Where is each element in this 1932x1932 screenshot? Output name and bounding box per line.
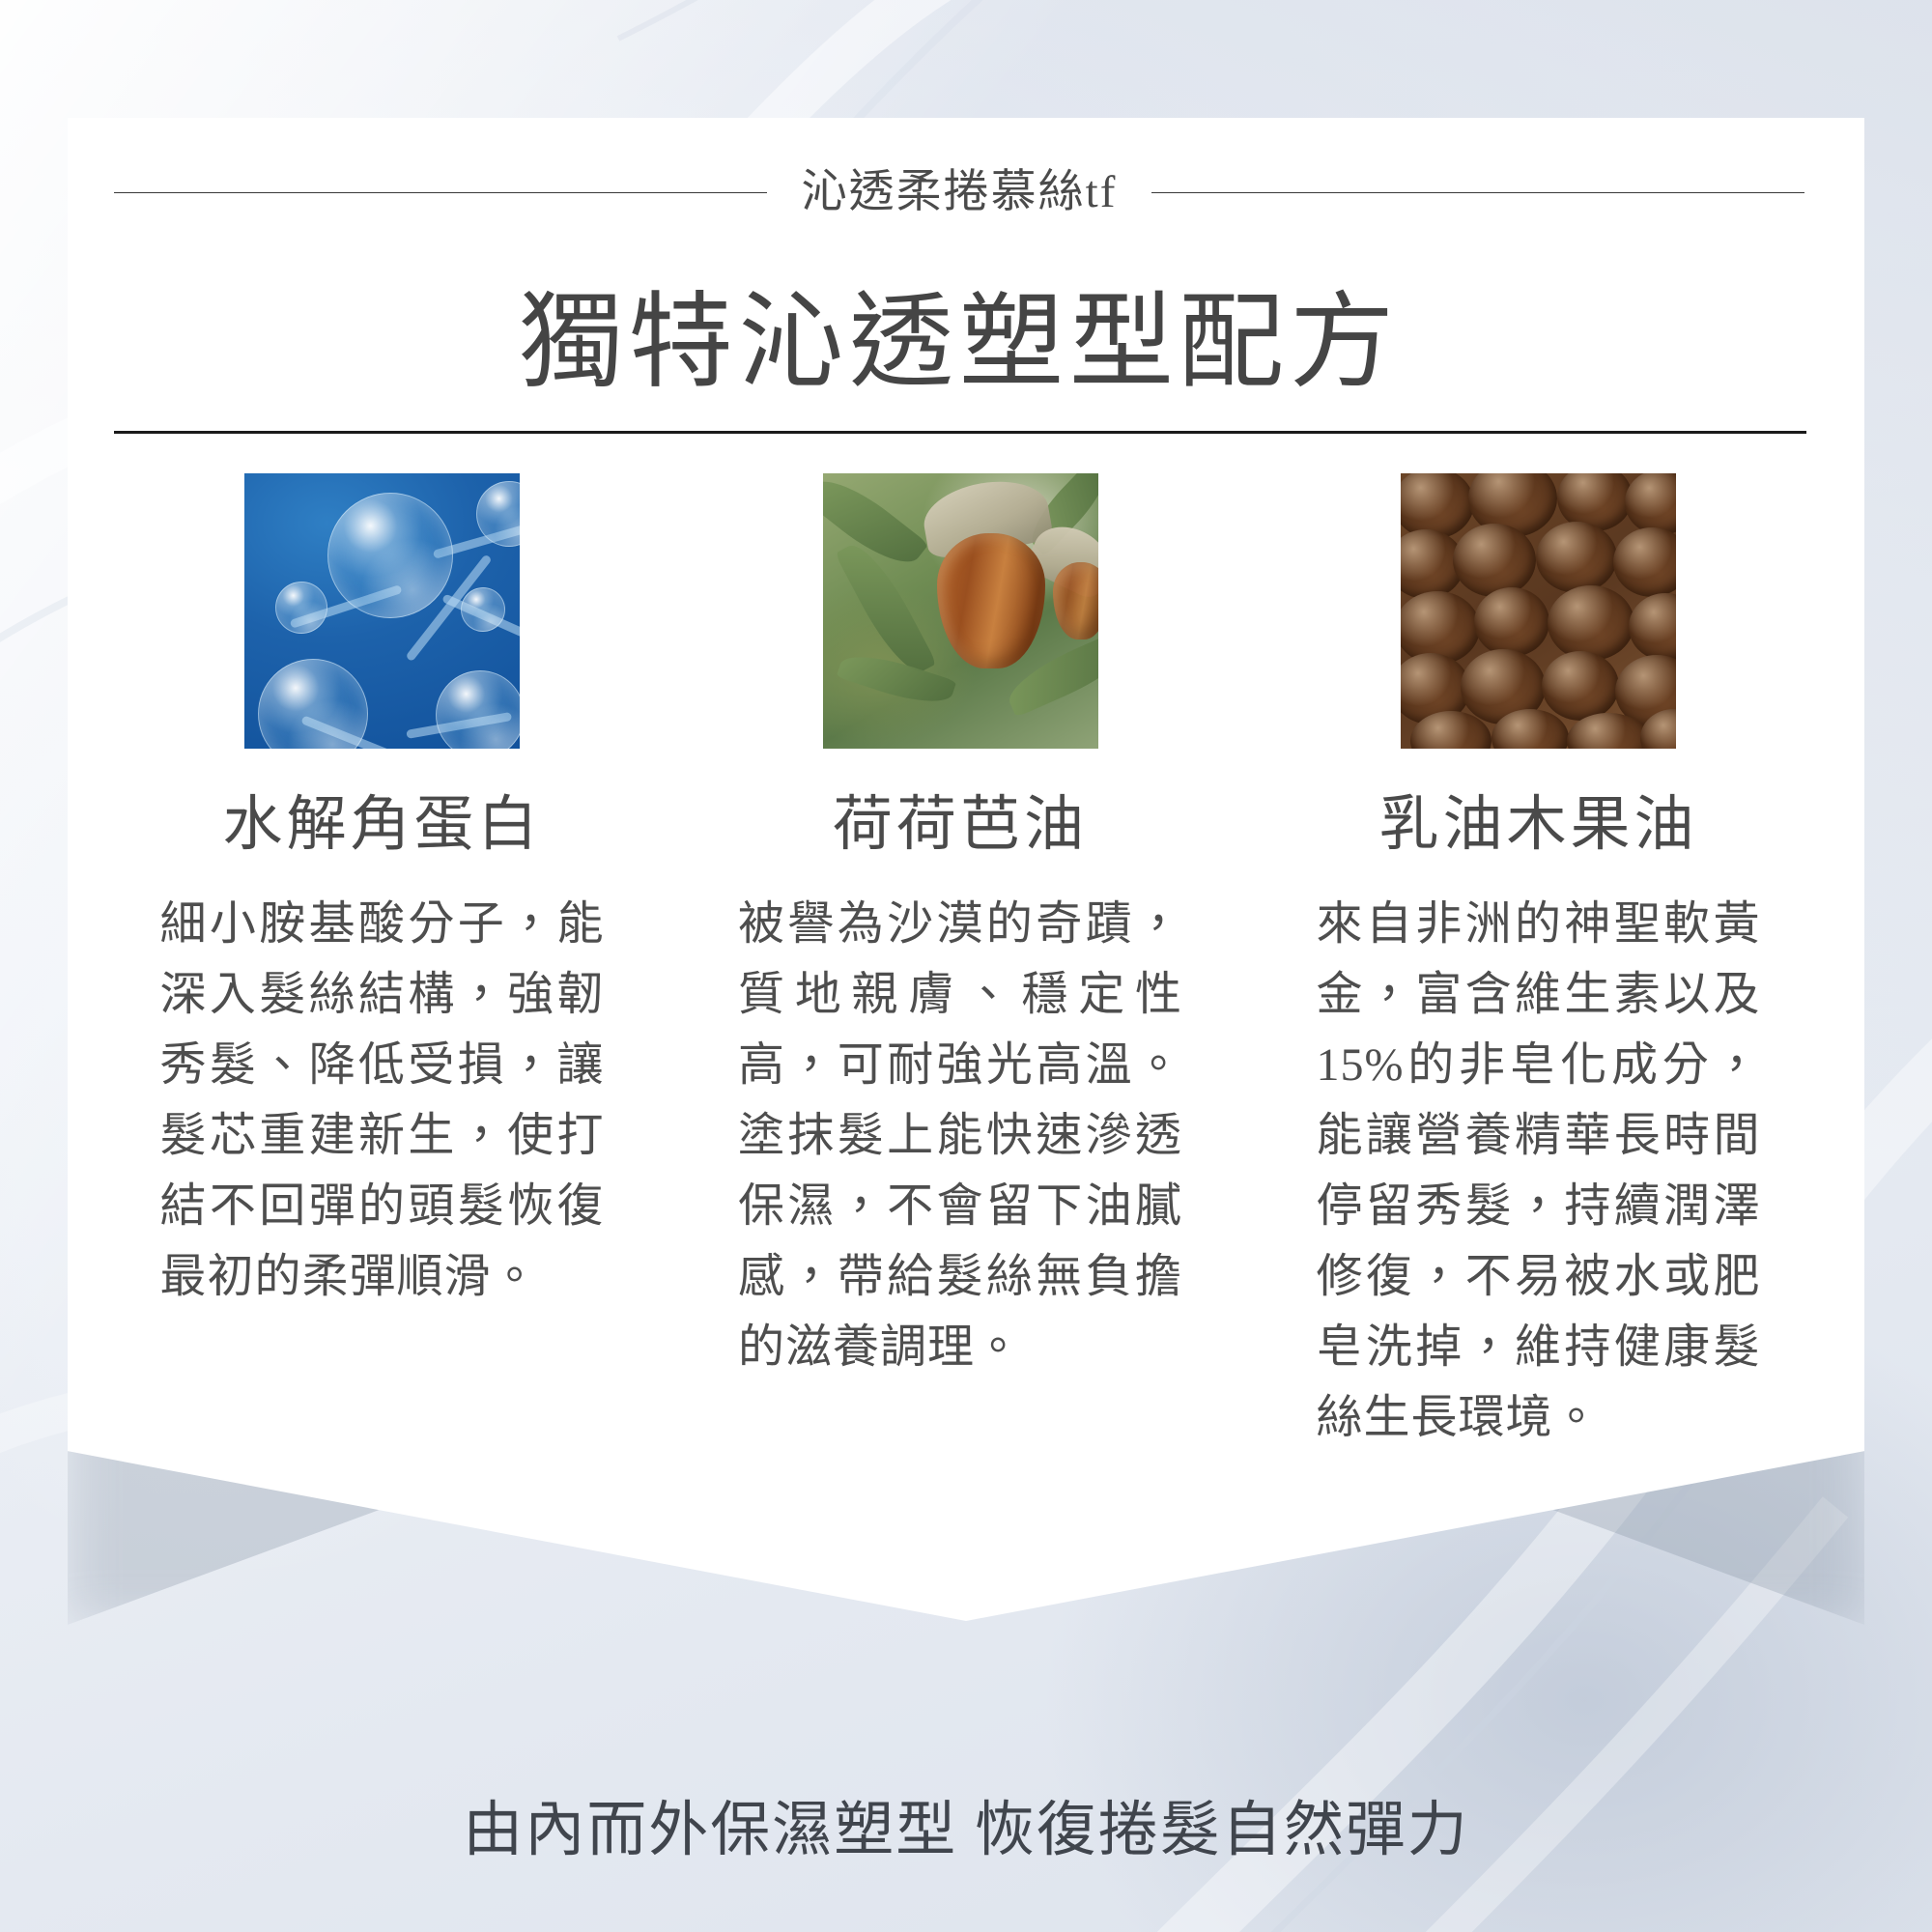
eyebrow-label: 沁透柔捲慕絲tf bbox=[796, 170, 1123, 215]
footer-tagline: 由內而外保濕塑型 恢復捲髮自然彈力 bbox=[0, 1795, 1932, 1866]
ingredient-description: 被譽為沙漠的奇蹟，質地親膚、穩定性高，可耐強光高溫。塗抹髮上能快速滲透保濕，不會… bbox=[738, 890, 1182, 1383]
ingredient-description: 來自非洲的神聖軟黃金，富含維生素以及15%的非皂化成分，能讓營養精華長時間停留秀… bbox=[1317, 890, 1761, 1454]
ingredient-title: 水解角蛋白 bbox=[222, 789, 541, 861]
eyebrow-rule-right bbox=[1151, 192, 1804, 193]
ingredient-card: 乳油木果油 來自非洲的神聖軟黃金，富含維生素以及15%的非皂化成分，能讓營養精華… bbox=[1270, 473, 1806, 1500]
jojoba-pod-image bbox=[823, 473, 1098, 749]
ingredient-description: 細小胺基酸分子，能深入髮絲結構，強韌秀髮、降低受損，讓髮芯重建新生，使打結不回彈… bbox=[160, 890, 605, 1313]
eyebrow: 沁透柔捲慕絲tf bbox=[114, 170, 1804, 215]
ingredient-card: 荷荷芭油 被譽為沙漠的奇蹟，質地親膚、穩定性高，可耐強光高溫。塗抹髮上能快速滲透… bbox=[693, 473, 1229, 1430]
ingredient-title: 乳油木果油 bbox=[1378, 789, 1697, 861]
shea-nuts-image bbox=[1401, 473, 1676, 749]
ingredient-card-list: 水解角蛋白 細小胺基酸分子，能深入髮絲結構，強韌秀髮、降低受損，讓髮芯重建新生，… bbox=[114, 473, 1806, 1500]
eyebrow-rule-left bbox=[114, 192, 767, 193]
poster-stage: 沁透柔捲慕絲tf 獨特沁透塑型配方 水解角蛋白 細小胺基酸分 bbox=[0, 0, 1932, 1932]
title-divider bbox=[114, 431, 1806, 434]
ingredient-card: 水解角蛋白 細小胺基酸分子，能深入髮絲結構，強韌秀髮、降低受損，讓髮芯重建新生，… bbox=[114, 473, 650, 1359]
ingredient-title: 荷荷芭油 bbox=[833, 789, 1088, 861]
hydrolyzed-keratin-bubbles-image bbox=[244, 473, 520, 749]
page-title: 獨特沁透塑型配方 bbox=[114, 277, 1804, 411]
